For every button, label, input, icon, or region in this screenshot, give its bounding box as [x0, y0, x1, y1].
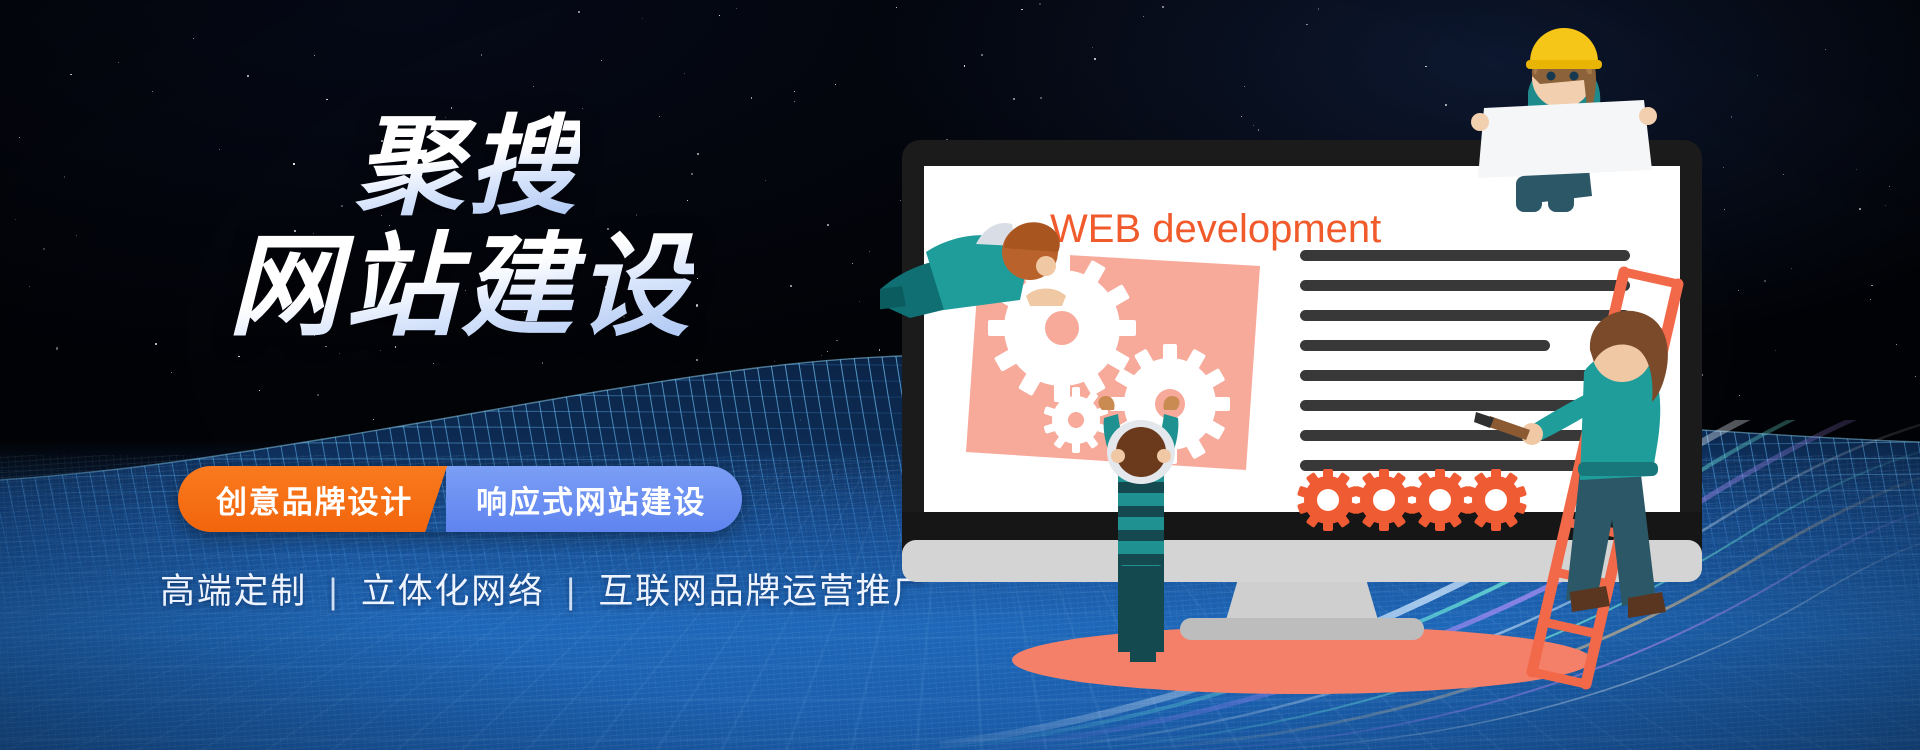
badge-label: 创意品牌设计	[216, 477, 413, 522]
screen-heading: WEB development	[1050, 207, 1381, 251]
page-title: 网站建设	[228, 228, 694, 346]
badge-label: 响应式网站建设	[476, 477, 706, 522]
tagline-separator-2: |	[556, 572, 587, 611]
badge-responsive-web-build[interactable]: 响应式网站建设	[446, 466, 742, 532]
brand-title: 聚搜	[355, 110, 580, 223]
hero-copy: 聚搜 网站建设 创意品牌设计 响应式网站建设 高端定制 | 立体化网络 | 互联…	[0, 0, 900, 750]
tagline-part-2: 立体化网络	[361, 572, 545, 611]
tagline-separator-1: |	[319, 572, 350, 611]
web-development-illustration: WEB development	[880, 0, 1920, 750]
tagline: 高端定制 | 立体化网络 | 互联网品牌运营推广	[160, 563, 929, 614]
hero-banner: 聚搜 网站建设 创意品牌设计 响应式网站建设 高端定制 | 立体化网络 | 互联…	[0, 0, 1920, 750]
badge-creative-brand-design[interactable]: 创意品牌设计	[178, 466, 447, 532]
service-badges: 创意品牌设计 响应式网站建设	[178, 466, 742, 532]
tagline-part-1: 高端定制	[160, 572, 307, 611]
